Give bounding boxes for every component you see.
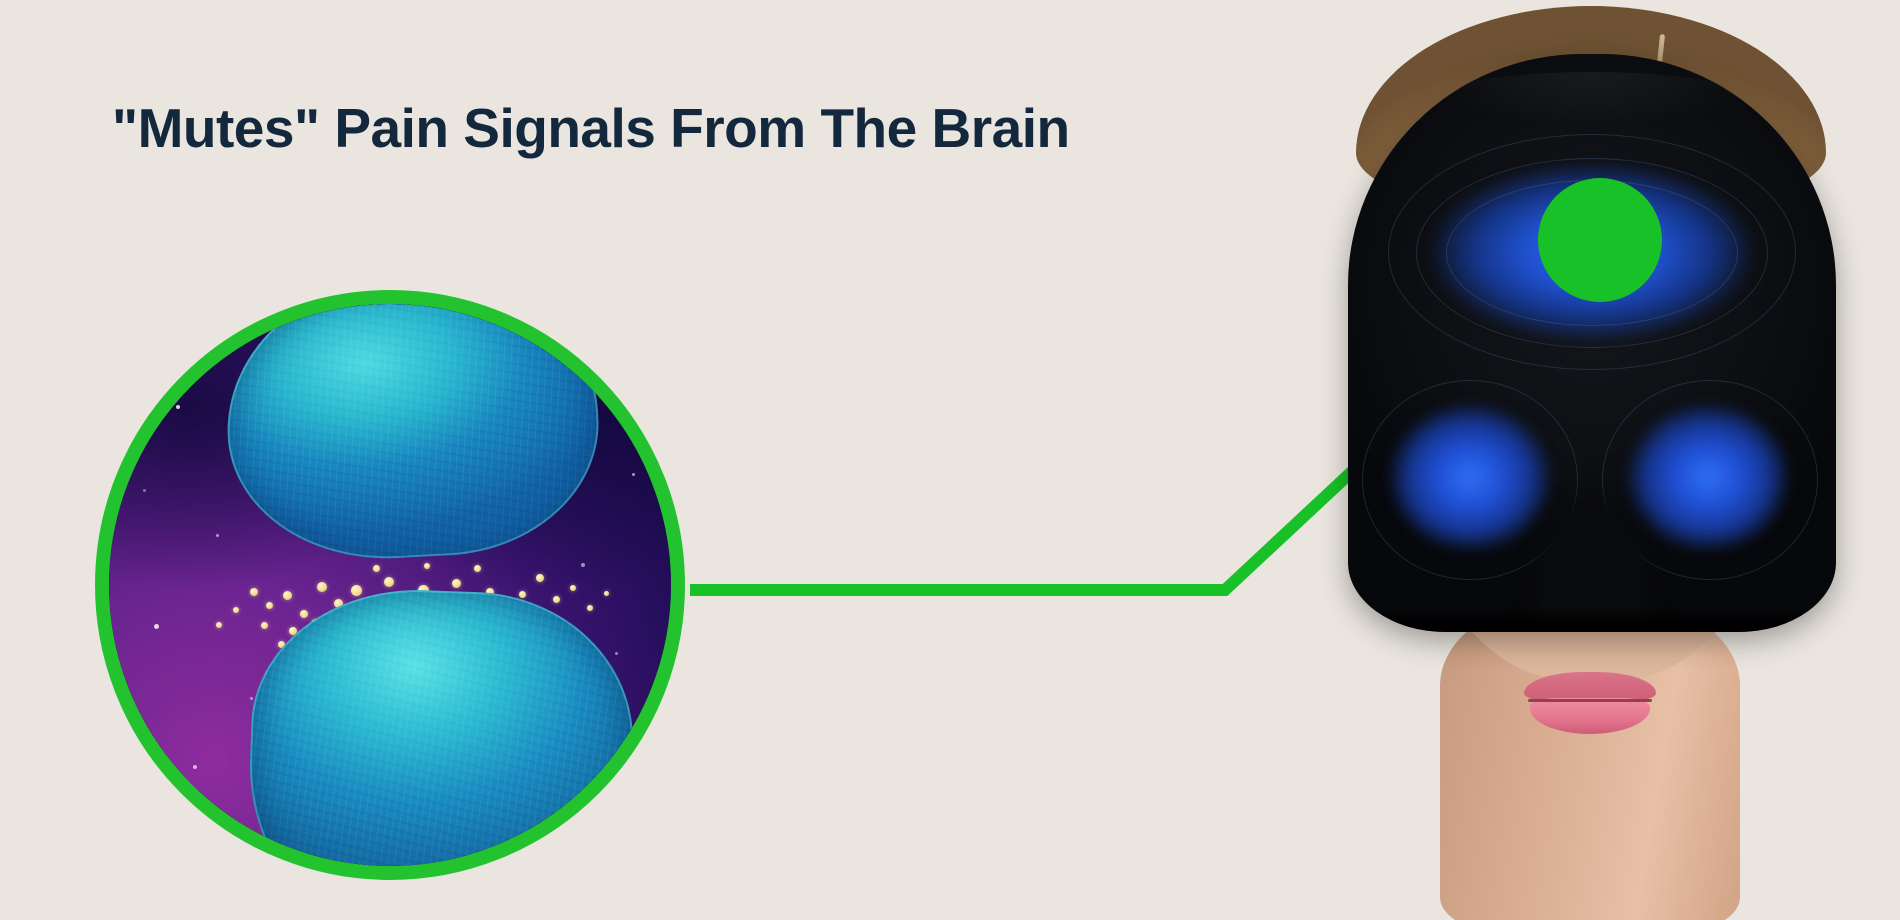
page-title: "Mutes" Pain Signals From The Brain [112, 100, 1070, 158]
cap-contour-line [1362, 380, 1578, 580]
model-photo [1272, 0, 1900, 920]
migraine-relief-cap [1348, 54, 1836, 632]
cap-bottom-edge [1348, 606, 1836, 632]
poster-canvas: "Mutes" Pain Signals From The Brain [0, 0, 1900, 920]
target-dot-icon [1538, 178, 1662, 302]
synapse-illustration [109, 304, 671, 866]
lips [1524, 672, 1656, 734]
lower-lip [1530, 698, 1650, 734]
lip-line [1528, 699, 1652, 702]
cap-contour-line [1602, 380, 1818, 580]
upper-lip [1524, 672, 1656, 701]
synapse-callout-circle [95, 290, 685, 880]
